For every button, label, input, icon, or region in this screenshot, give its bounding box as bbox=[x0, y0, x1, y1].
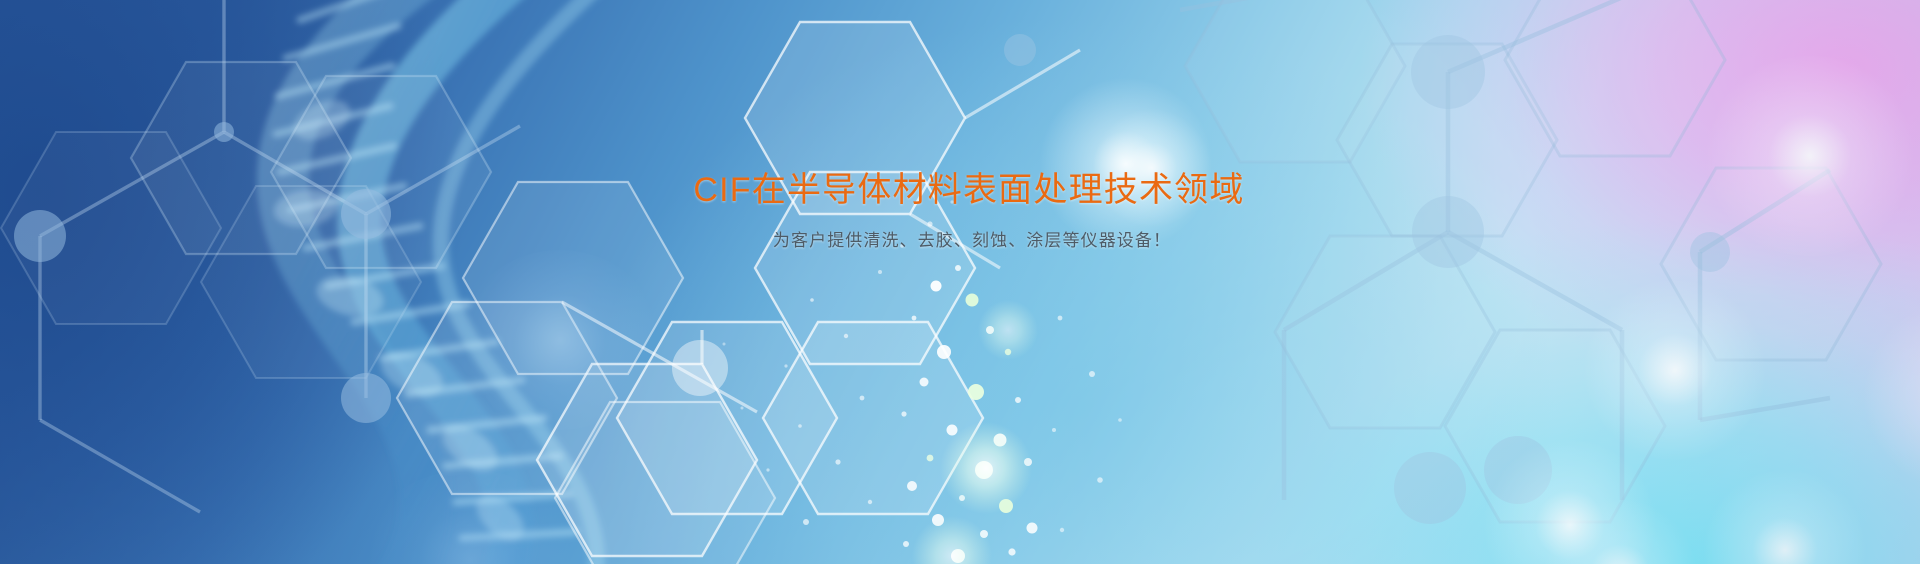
background-vignette bbox=[0, 0, 1920, 564]
hero-banner: .hexDark { fill: rgba(255,255,255,0.055)… bbox=[0, 0, 1920, 564]
